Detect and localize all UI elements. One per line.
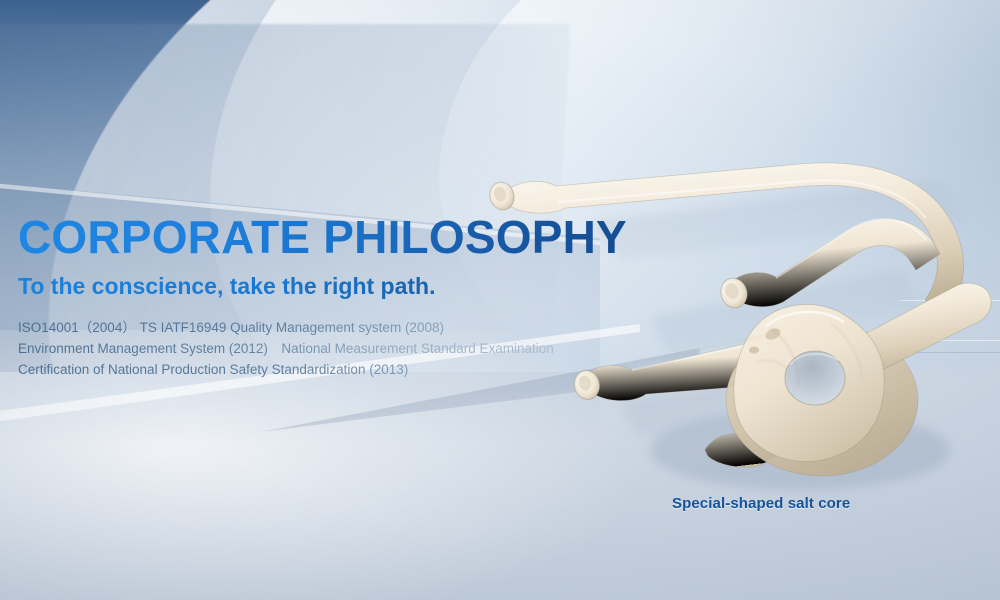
corporate-philosophy-banner: CORPORATE PHILOSOPHY To the conscience, … (0, 0, 1000, 600)
page-title: CORPORATE PHILOSOPHY (18, 214, 638, 262)
product-caption: Special-shaped salt core (672, 495, 850, 512)
headline-text-block: CORPORATE PHILOSOPHY To the conscience, … (18, 214, 638, 380)
certification-line: Certification of National Production Saf… (18, 359, 638, 380)
certification-line: Environment Management System (2012) Nat… (18, 338, 638, 359)
certification-line: ISO14001（2004） TS IATF16949 Quality Mana… (18, 317, 638, 338)
certification-list: ISO14001（2004） TS IATF16949 Quality Mana… (18, 317, 638, 380)
page-subtitle: To the conscience, take the right path. (18, 274, 638, 299)
